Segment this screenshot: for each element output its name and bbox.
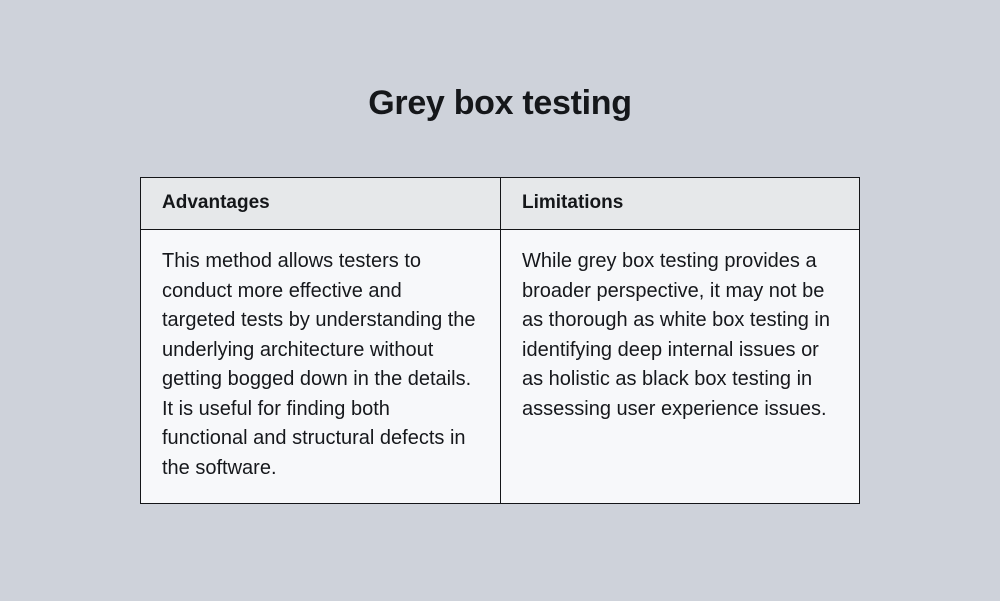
table-body: This method allows testers to conduct mo…: [141, 230, 860, 504]
column-header-advantages: Advantages: [141, 178, 501, 230]
table-row: This method allows testers to conduct mo…: [141, 230, 860, 504]
cell-advantages-body: This method allows testers to conduct mo…: [141, 230, 501, 504]
document-page: Grey box testing Advantages Limitations …: [0, 0, 1000, 601]
comparison-table: Advantages Limitations This method allow…: [140, 177, 860, 504]
table-header-row: Advantages Limitations: [141, 178, 860, 230]
cell-limitations-body: While grey box testing provides a broade…: [501, 230, 860, 504]
page-title: Grey box testing: [0, 82, 1000, 124]
table-header: Advantages Limitations: [141, 178, 860, 230]
column-header-limitations: Limitations: [501, 178, 860, 230]
